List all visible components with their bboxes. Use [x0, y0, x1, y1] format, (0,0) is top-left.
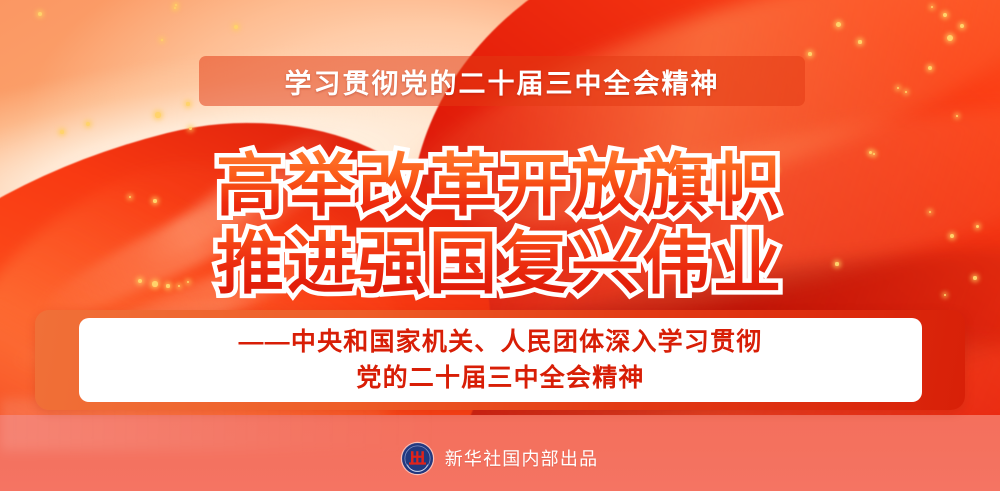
main-title-line-2-fill: 推进强国复兴伟业 — [216, 226, 784, 302]
sparkle-dot — [808, 52, 812, 56]
subtitle-line-2: 党的二十届三中全会精神 — [356, 362, 644, 395]
sparkle-dot — [186, 102, 189, 105]
main-title-line-2: 推进强国复兴伟业 推进强国复兴伟业 — [0, 226, 1000, 304]
sparkle-dot — [38, 12, 42, 16]
sparkle-dot — [947, 35, 953, 41]
top-banner-text: 学习贯彻党的二十届三中全会精神 — [285, 62, 720, 101]
poster-canvas: 学习贯彻党的二十届三中全会精神 高举改革开放旗帜 高举改革开放旗帜 推进强国复兴… — [0, 0, 1000, 491]
main-title-line-1-fill: 高举改革开放旗帜 — [216, 148, 784, 224]
sparkle-dot — [836, 22, 841, 27]
top-banner: 学习贯彻党的二十届三中全会精神 — [199, 56, 805, 106]
footer: 新华社国内部出品 — [0, 441, 1000, 475]
sparkle-dot — [189, 127, 192, 130]
subtitle-card: ——中央和国家机关、人民团体深入学习贯彻 党的二十届三中全会精神 — [79, 318, 922, 402]
sparkle-dot — [858, 40, 861, 43]
sparkle-dot — [60, 130, 63, 133]
sparkle-dot — [960, 24, 964, 28]
main-title: 高举改革开放旗帜 高举改革开放旗帜 推进强国复兴伟业 推进强国复兴伟业 — [0, 148, 1000, 303]
subtitle-line-1: ——中央和国家机关、人民团体深入学习贯彻 — [238, 326, 762, 359]
sparkle-dot — [928, 66, 932, 70]
main-title-line-1: 高举改革开放旗帜 高举改革开放旗帜 — [0, 148, 1000, 226]
xinhua-agency-logo-icon — [402, 443, 433, 474]
footer-text: 新华社国内部出品 — [445, 445, 599, 471]
sparkle-dot — [155, 112, 160, 117]
